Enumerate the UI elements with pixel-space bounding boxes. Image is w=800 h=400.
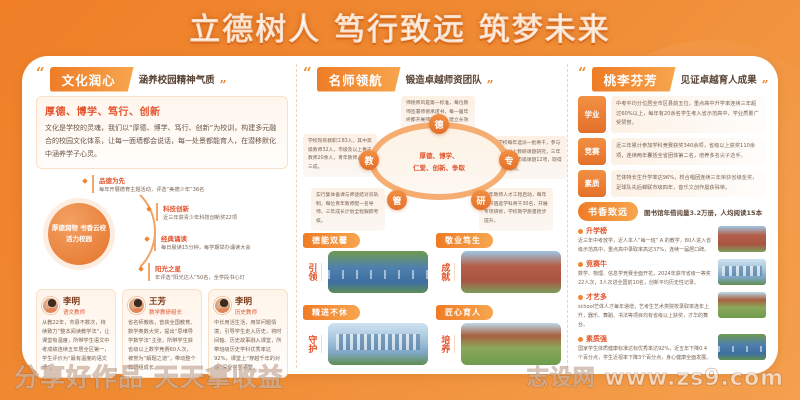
bullet-icon [578, 295, 583, 300]
book-item-title: 竞赛牛 [586, 259, 607, 269]
teacher-name: 李明 [63, 295, 85, 307]
teacher-name: 李明 [235, 295, 257, 307]
branch-title: 阳光之星 [155, 263, 245, 273]
book-item-photo [718, 292, 766, 318]
branch-title: 科技创新 [163, 203, 237, 213]
quote-open-icon: “ [303, 68, 312, 78]
faculty-card-vertical-label: 守护 [303, 335, 322, 353]
center-line-2: 仁爱、创新、争取 [413, 162, 465, 174]
mindmap-branch: 经典诵读 每日晨读15分钟，每学期举办诵读大会 [154, 233, 251, 252]
title-banner: 立德树人 笃行致远 筑梦未来 [0, 10, 800, 50]
ring-node[interactable]: 研 [471, 190, 491, 210]
book-item-title: 素质强 [586, 334, 607, 344]
branch-title: 经典诵读 [161, 233, 251, 243]
culture-motto: 厚德、博学、笃行、创新 [45, 103, 279, 118]
faculty-card-tag: 精进不休 [303, 305, 360, 320]
book-item-desc: 数学、物理、信息学竞赛全面开花，2024年获市省级一等奖22人次，3人次进全国前… [578, 270, 712, 288]
book-item-photo [718, 259, 766, 285]
achievement-badge: 素质 [578, 170, 606, 197]
book-item[interactable]: 升学榜 近三年中考放学，近人本人“每一班” A 的教学，80人进入省级示范高中，… [578, 226, 766, 255]
column-achievements: “ 桃李芬芳 见证卓越育人成果 ” 学业 中考平均分位居全市区县前五位，重点高中… [568, 64, 772, 368]
quote-open-icon: “ [578, 68, 587, 78]
mindmap-branch: 科技创新 近三年获青少年科技创新奖22项 [156, 203, 237, 222]
teacher-role: 历史教师 [235, 308, 257, 316]
teacher-card-list: 李明 语文教师 从教22年，市县不数次，持续致力“整本阅读教学法”，让课堂有温度… [36, 289, 288, 379]
faculty-card[interactable]: 德能双馨 引领 [303, 228, 428, 293]
faculty-card[interactable]: 精进不休 守护 [303, 300, 428, 365]
section-tag-faculty: 名师领航 [317, 67, 401, 92]
achievement-badge: 学业 [578, 96, 606, 133]
ring-node[interactable]: 专 [499, 150, 519, 170]
book-item-list: 升学榜 近三年中考放学，近人本人“每一班” A 的教学，80人进入省级示范高中，… [578, 226, 766, 363]
branch-desc: 年评选“阳光达人”50名，全学段书心灯 [155, 274, 245, 281]
branch-desc: 每年开展德育主题活动，评选“美德少年”36名 [99, 186, 204, 193]
teacher-card: 李明 历史教师 中长用活生活，用举问题情境，引导学生走入历史，将时间轴、历史故事… [208, 289, 288, 379]
section-header-faculty: “ 名师领航 锻造卓越师资团队 ” [303, 68, 561, 90]
content-board: “ 文化润心 涵养校园精神气质 ” 厚德、博学、笃行、创新 文化是学校的灵魂，我… [22, 56, 778, 374]
mindmap-center-label: 厚德润物 书香云校 活力校园 [48, 223, 110, 244]
bullet-icon [578, 262, 583, 267]
teacher-role: 数学教研组长 [149, 308, 182, 316]
faculty-card-vertical-label: 引领 [303, 263, 322, 281]
branch-title: 品德为先 [99, 175, 204, 185]
diamond-icon [138, 266, 144, 272]
faculty-card-tag: 敬业笃生 [436, 233, 493, 248]
quote-close-icon: ” [487, 80, 494, 90]
quote-open-icon: “ [36, 68, 45, 78]
teacher-desc: 从教22年，市县不数次，持续致力“整本阅读教学法”，让课堂有温度，所带学生语文中… [42, 319, 110, 374]
ring-node[interactable]: 德 [429, 114, 449, 134]
achievement-row: 素质 艺体特长生升学率达96%，校合唱团连续三年荣获省级金奖，足球队先后蝉联市级… [578, 170, 766, 197]
teacher-desc: 省名师教练，曾获全国教育、数学奥数大奖，提出“思维导学数学法”主张，所带学生获省… [128, 319, 196, 374]
book-item-desc: school艺体人才每年递增，艺考生艺术类院校录取率连年上升，器乐、舞蹈、书法等… [578, 303, 712, 330]
book-item-desc: 国家学生体质健康标准达标优秀率达92%，近五年下降0.4个百分点，学生近视率下降… [578, 345, 712, 363]
section-subtitle-achievements: 见证卓越育人成果 [681, 72, 757, 86]
teacher-desc: 中长用活生活，用举问题情境，引导学生走入历史，将时间轴、历史故事融入课堂，所带班… [214, 319, 282, 374]
teacher-card: 李明 语文教师 从教22年，市县不数次，持续致力“整本阅读教学法”，让课堂有温度… [36, 289, 116, 379]
book-item-title: 才艺多 [586, 292, 607, 302]
achievement-text: 艺体特长生升学率达96%，校合唱团连续三年荣获省级金奖，足球队先后蝉联市级四年，… [611, 170, 766, 197]
section-tag-culture: 文化润心 [50, 67, 134, 92]
book-item-photo [718, 334, 766, 360]
center-line-1: 厚德、博学、 [420, 150, 459, 162]
section-header-achievements: “ 桃李芬芳 见证卓越育人成果 ” [578, 68, 766, 90]
achievement-text: 近三年累计参加学科竞赛获奖340余项，省级以上获奖110余项，连续两年囊括全省团… [611, 138, 766, 165]
bullet-icon [578, 337, 583, 342]
achievement-list: 学业 中考平均分位居全市区县前五位，重点高中升学率连续三年超过60%以上，每年有… [578, 96, 766, 197]
poster-canvas: 志设 立德树人 笃行致远 筑梦未来 “ 文化润心 涵养校园精神气质 ” 厚德、博… [0, 0, 800, 400]
faculty-card-photo [328, 251, 428, 293]
faculty-card[interactable]: 匠心育人 培养 [436, 300, 561, 365]
quote-close-icon: ” [220, 80, 227, 90]
teacher-name: 王芳 [149, 295, 182, 307]
book-item[interactable]: 才艺多 school艺体人才每年递增，艺考生艺术类院校录取率连年上升，器乐、舞蹈… [578, 292, 766, 330]
mindmap-center-node: 厚德润物 书香云校 活力校园 [48, 203, 110, 265]
faculty-card-tag: 德能双馨 [303, 233, 360, 248]
teacher-role: 语文教师 [63, 308, 85, 316]
section-subtitle-faculty: 锻造卓越师资团队 [406, 72, 482, 86]
faculty-card-photo [328, 323, 428, 365]
bullet-icon [578, 229, 583, 234]
avatar [214, 297, 231, 314]
achievement-badge: 竞赛 [578, 138, 606, 165]
achievement-row: 学业 中考平均分位居全市区县前五位，重点高中升学率连续三年超过60%以上，每年有… [578, 96, 766, 133]
book-item-title: 升学榜 [586, 226, 607, 236]
faculty-card[interactable]: 敬业笃生 成就 [436, 228, 561, 293]
ring-node[interactable]: 管 [387, 190, 407, 210]
book-section-header: 书香致远 图书馆年借阅量3.2万册，人均阅读15本 [578, 202, 766, 221]
mindmap-branch: 阳光之星 年评选“阳光达人”50名，全学段书心灯 [148, 263, 245, 282]
book-item-desc: 近三年中考放学，近人本人“每一班” A 的教学，80人进入省级示范高中，重点高中… [578, 237, 712, 255]
achievement-text: 中考平均分位居全市区县前五位，重点高中升学率连续三年超过60%以上，每年有20余… [611, 96, 766, 133]
ring-node[interactable]: 教 [359, 150, 379, 170]
faculty-card-photo [461, 323, 561, 365]
section-tag-achievements: 桃李芬芳 [592, 67, 676, 92]
faculty-card-grid: 德能双馨 引领 敬业笃生 成就 精进不休 守护 [303, 228, 561, 365]
avatar [42, 297, 59, 314]
faculty-card-photo [461, 251, 561, 293]
culture-card: 厚德、博学、笃行、创新 文化是学校的灵魂，我们以“厚德、博学、笃行、创新”为校训… [36, 96, 288, 169]
section-header-culture: “ 文化润心 涵养校园精神气质 ” [36, 68, 288, 90]
book-item[interactable]: 素质强 国家学生体质健康标准达标优秀率达92%，近五年下降0.4个百分点，学生近… [578, 334, 766, 363]
mindmap: 厚德润物 书香云校 活力校园 品德为先 每年开展德育主题活动，评选“美德少年”3… [36, 175, 288, 285]
diagram-note: 青年教师人才工程启动，每年公开遴选学科骨干30名，开展专项研修，学校教学质量稳步… [479, 188, 553, 231]
faculty-card-vertical-label: 成就 [436, 263, 455, 281]
diagram-note: 实行集体备课与师徒结对双轨制，每位青年教师配一名导师，三年成长计划全程跟踪考核。 [311, 188, 385, 231]
book-item[interactable]: 竞赛牛 数学、物理、信息学竞赛全面开花，2024年获市省级一等奖22人次，3人次… [578, 259, 766, 288]
book-section-subtitle: 图书馆年借阅量3.2万册，人均阅读15本 [644, 207, 762, 217]
teacher-card: 王芳 数学教研组长 省名师教练，曾获全国教育、数学奥数大奖，提出“思维导学数学法… [122, 289, 202, 379]
section-subtitle-culture: 涵养校园精神气质 [139, 72, 215, 86]
avatar [128, 297, 145, 314]
branch-desc: 近三年获青少年科技创新奖22项 [163, 214, 237, 221]
column-culture: “ 文化润心 涵养校园精神气质 ” 厚德、博学、笃行、创新 文化是学校的灵魂，我… [28, 64, 296, 368]
page-title: 立德树人 笃行致远 筑梦未来 [189, 10, 611, 50]
branch-desc: 每日晨读15分钟，每学期举办诵读大会 [161, 244, 251, 251]
diagram-center-text: 厚德、博学、 仁爱、创新、争取 [385, 140, 493, 184]
faculty-ring-diagram: 师德师风是第一标准，每位教师签署师德承诺书，每一届年终都开展师德考评，建立长效师… [303, 96, 561, 224]
faculty-card-tag: 匠心育人 [436, 305, 493, 320]
achievement-row: 竞赛 近三年累计参加学科竞赛获奖340余项，省级以上获奖110余项，连续两年囊括… [578, 138, 766, 165]
mindmap-branch: 品德为先 每年开展德育主题活动，评选“美德少年”36名 [92, 175, 204, 194]
faculty-card-vertical-label: 培养 [436, 335, 455, 353]
book-item-photo [718, 226, 766, 252]
column-faculty: “ 名师领航 锻造卓越师资团队 ” 师德师风是第一标准，每位教师签署师德承诺书，… [296, 64, 568, 368]
culture-body-text: 文化是学校的灵魂，我们以“厚德、博学、笃行、创新”为校训，构建多元融合的校园文化… [45, 122, 279, 161]
quote-close-icon: ” [762, 80, 769, 90]
book-section-tag: 书香致远 [578, 202, 638, 221]
